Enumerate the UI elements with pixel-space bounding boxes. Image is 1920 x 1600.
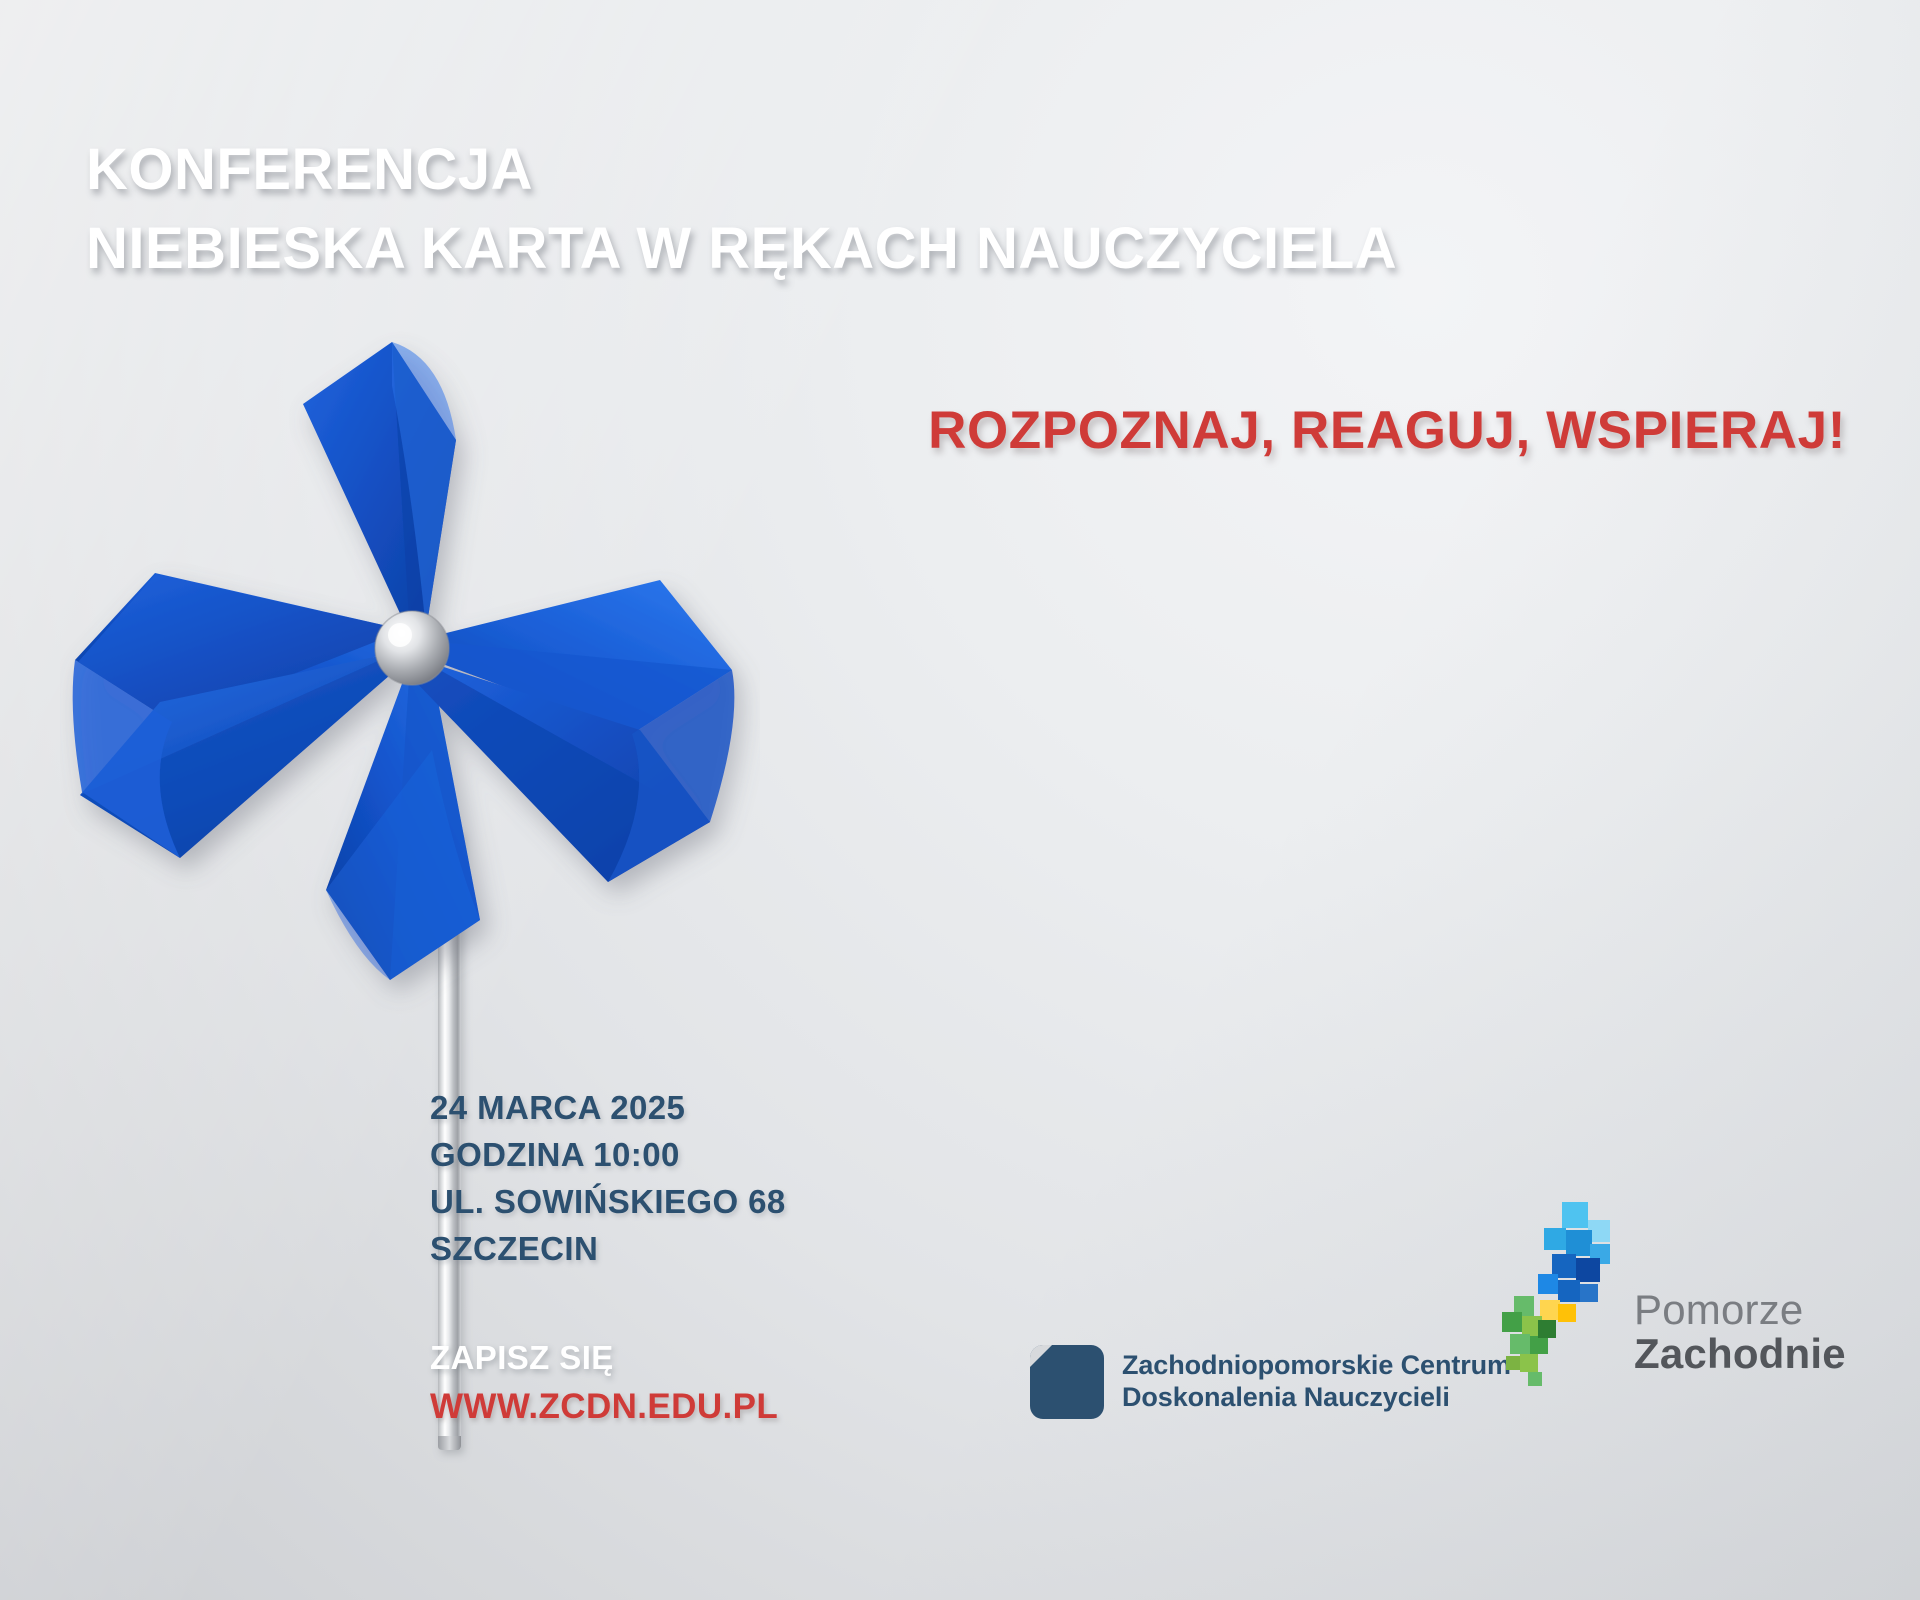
zcdn-logo-line-2: Doskonalenia Nauczycieli — [1122, 1382, 1511, 1414]
pomorze-zachodnie-mosaic-mark-icon — [1500, 1200, 1618, 1420]
event-time: GODZINA 10:00 — [430, 1132, 786, 1179]
pomorze-zachodnie-logo: Pomorze Zachodnie — [1500, 1200, 1846, 1420]
zcdn-logo: Zachodniopomorskie Centrum Doskonalenia … — [1030, 1345, 1511, 1419]
pomorze-zachodnie-logo-text: Pomorze Zachodnie — [1634, 1288, 1846, 1376]
signup-cta: ZAPISZ SIĘ — [430, 1335, 778, 1382]
pomorze-zachodnie-line-2: Zachodnie — [1634, 1332, 1846, 1376]
event-info-block: 24 MARCA 2025 GODZINA 10:00 UL. SOWIŃSKI… — [430, 1085, 786, 1272]
headline-line-1: KONFERENCJA — [86, 140, 1846, 199]
signup-url[interactable]: WWW.ZCDN.EDU.PL — [430, 1382, 778, 1432]
signup-block: ZAPISZ SIĘ WWW.ZCDN.EDU.PL — [430, 1335, 778, 1432]
subtitle-text: ROZPOZNAJ, REAGUJ, WSPIERAJ! — [928, 400, 1846, 461]
subtitle-block: ROZPOZNAJ, REAGUJ, WSPIERAJ! — [86, 400, 1868, 461]
zcdn-diagonal-mark-icon — [1030, 1345, 1104, 1419]
zcdn-logo-text: Zachodniopomorskie Centrum Doskonalenia … — [1122, 1350, 1511, 1414]
headline-line-2: NIEBIESKA KARTA W RĘKACH NAUCZYCIELA — [86, 219, 1846, 278]
blue-pinwheel-illustration — [60, 330, 760, 1470]
zcdn-slash-shape — [1030, 1345, 1104, 1371]
poster-canvas: KONFERENCJA NIEBIESKA KARTA W RĘKACH NAU… — [0, 0, 1920, 1600]
pomorze-zachodnie-line-1: Pomorze — [1634, 1288, 1846, 1332]
headline-block: KONFERENCJA NIEBIESKA KARTA W RĘKACH NAU… — [86, 140, 1846, 278]
event-street: UL. SOWIŃSKIEGO 68 — [430, 1179, 786, 1226]
event-date: 24 MARCA 2025 — [430, 1085, 786, 1132]
event-city: SZCZECIN — [430, 1226, 786, 1273]
zcdn-logo-line-1: Zachodniopomorskie Centrum — [1122, 1350, 1511, 1382]
